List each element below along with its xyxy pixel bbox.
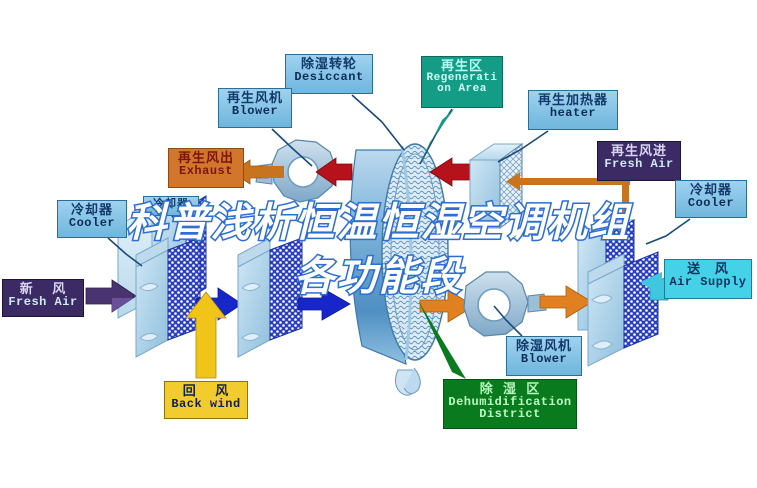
label-desiccant-rotor-cn: 除湿转轮 bbox=[289, 57, 369, 71]
label-regeneration-heater-cn: 再生加热器 bbox=[532, 93, 614, 107]
svg-text:xtx: xtx bbox=[394, 319, 409, 333]
label-cooler-right: 冷却器Cooler bbox=[675, 180, 747, 218]
label-back-wind: 回 风Back wind bbox=[164, 381, 248, 419]
label-regeneration-fresh-air-inlet: 再生风进Fresh Air bbox=[597, 141, 681, 181]
label-regeneration-blower-cn: 再生风机 bbox=[222, 91, 288, 105]
dehumidification-blower-unit bbox=[464, 272, 546, 336]
label-regeneration-exhaust: 再生风出Exhaust bbox=[168, 148, 244, 188]
label-fresh-air-inlet-cn: 新 风 bbox=[6, 282, 80, 296]
label-regeneration-fresh-air-inlet-cn: 再生风进 bbox=[601, 144, 677, 158]
label-fresh-air-inlet: 新 风Fresh Air bbox=[2, 279, 84, 317]
label-regeneration-fresh-air-inlet-en: Fresh Air bbox=[601, 158, 677, 171]
label-dehumidification-blower-en: Blower bbox=[510, 353, 578, 366]
supply-filter-block bbox=[588, 252, 658, 366]
label-cooler-mid: 冷却器 bbox=[143, 196, 199, 216]
label-regeneration-area: 再生区Regenerati on Area bbox=[421, 56, 503, 108]
label-regeneration-blower-en: Blower bbox=[222, 105, 288, 118]
label-back-wind-en: Back wind bbox=[168, 398, 244, 411]
label-dehumidification-blower-cn: 除湿风机 bbox=[510, 339, 578, 353]
label-air-supply-en: Air Supply bbox=[668, 276, 748, 289]
label-regeneration-heater-en: heater bbox=[532, 107, 614, 120]
diagram-canvas: xtx bbox=[0, 0, 757, 488]
label-cooler-mid-cn: 冷却器 bbox=[147, 199, 195, 211]
label-dehumidification-district-en: Dehumidification District bbox=[447, 396, 573, 421]
label-regeneration-area-cn: 再生区 bbox=[425, 59, 499, 73]
label-desiccant-rotor-en: Desiccant bbox=[289, 71, 369, 84]
label-dehumidification-blower: 除湿风机Blower bbox=[506, 336, 582, 376]
label-dehumidification-district-cn: 除 湿 区 bbox=[447, 382, 573, 396]
label-cooler-right-en: Cooler bbox=[679, 197, 743, 210]
label-regeneration-heater: 再生加热器heater bbox=[528, 90, 618, 130]
label-cooler-left-cn: 冷却器 bbox=[61, 203, 123, 217]
filter-block-1 bbox=[136, 238, 200, 357]
label-fresh-air-inlet-en: Fresh Air bbox=[6, 296, 80, 309]
hvac-schematic-illustration: xtx bbox=[0, 0, 757, 488]
label-air-supply: 送 风Air Supply bbox=[664, 259, 752, 299]
label-regeneration-exhaust-en: Exhaust bbox=[172, 165, 240, 178]
label-dehumidification-district: 除 湿 区Dehumidification District bbox=[443, 379, 577, 429]
label-regeneration-area-en: Regenerati on Area bbox=[425, 73, 499, 96]
label-cooler-left: 冷却器Cooler bbox=[57, 200, 127, 238]
label-back-wind-cn: 回 风 bbox=[168, 384, 244, 398]
label-cooler-left-en: Cooler bbox=[61, 217, 123, 230]
label-air-supply-cn: 送 风 bbox=[668, 262, 748, 276]
airflow-arrow-2 bbox=[298, 288, 350, 320]
label-cooler-right-cn: 冷却器 bbox=[679, 183, 743, 197]
label-regeneration-blower: 再生风机Blower bbox=[218, 88, 292, 128]
label-regeneration-exhaust-cn: 再生风出 bbox=[172, 151, 240, 165]
label-desiccant-rotor: 除湿转轮Desiccant bbox=[285, 54, 373, 94]
filter-block-2 bbox=[238, 238, 302, 357]
desiccant-rotor-wheel: xtx bbox=[350, 144, 448, 395]
